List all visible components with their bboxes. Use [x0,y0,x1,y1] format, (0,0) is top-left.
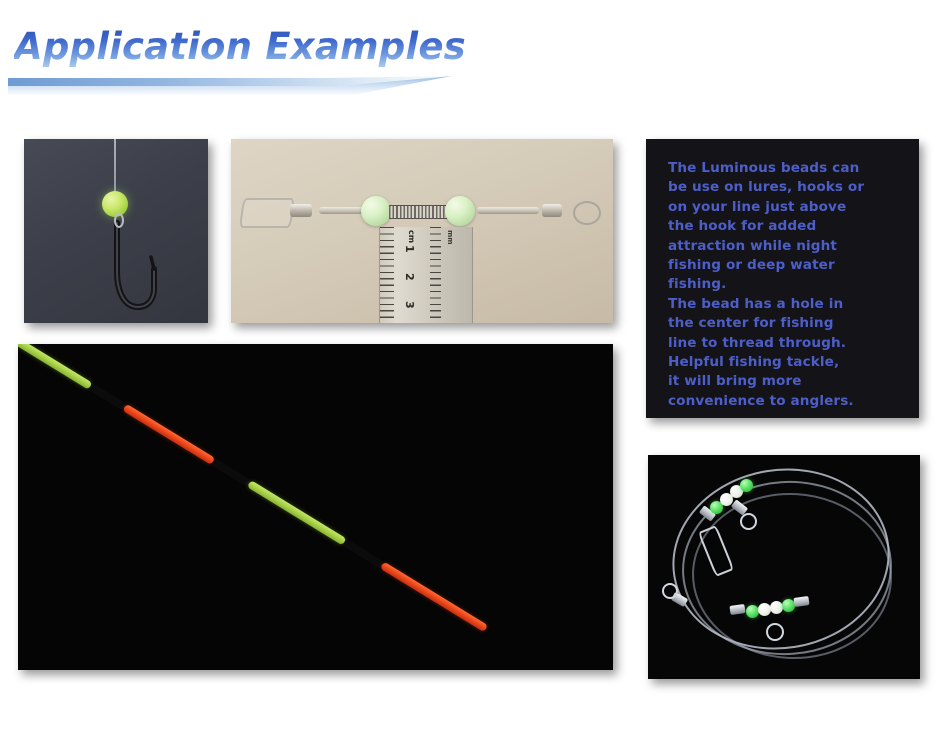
connector-rod-right [477,207,539,214]
page-title: Application Examples [14,28,466,67]
barrel-swivel-right [542,204,562,217]
bead-green-upper-2 [740,479,753,492]
ruler-label-mm: mm [446,230,454,245]
ruler-ticks-mm [430,227,441,323]
band-black-2 [211,458,251,487]
swivel-ring-upper [740,513,757,530]
swivel-eye-lower-left [662,583,678,599]
band-black-3 [342,539,384,569]
title-underline-decoration [8,76,452,98]
photo-rig-with-ruler: cm 1 2 3 mm [231,139,613,323]
ruler-label-3: 3 [403,301,416,309]
hook-curve-icon [98,213,160,317]
photo-hook-with-bead [24,139,208,323]
bead-rig-assembly [237,195,609,229]
luminous-bead-right [445,196,475,226]
band-green-1 [18,344,92,390]
luminous-bead-left [361,196,391,226]
connector-rod-left [319,207,365,214]
ruler-label-2: 2 [403,273,416,281]
hook-eye [114,213,124,228]
spring-coil [389,205,449,219]
hook-shape [98,213,160,317]
float-antenna-stick [18,344,594,670]
photo-leader-lines [648,455,920,679]
ruler-ticks-cm [380,227,394,323]
barrel-swivel-left [290,204,312,217]
bead-white-lower-1 [758,603,771,616]
bead-green-lower-1 [746,605,759,618]
snap-clip [239,198,295,228]
description-panel: The Luminous beads can be use on lures, … [646,139,919,418]
band-orange-2 [380,562,488,633]
photo-float-antenna [18,344,613,670]
snap-ring-right [573,201,601,225]
band-green-2 [247,480,347,545]
measuring-ruler: cm 1 2 3 mm [379,227,473,323]
application-examples-banner: Application Examples [0,0,950,742]
ruler-label-1: 1 [403,245,416,253]
description-text: The Luminous beads can be use on lures, … [668,159,904,411]
band-black-1 [88,383,126,411]
swivel-ring-lower [766,623,784,641]
bead-white-lower-2 [770,601,783,614]
ruler-label-cm: cm [407,230,416,243]
page-title-block: Application Examples [8,28,468,98]
band-orange-1 [122,404,215,465]
